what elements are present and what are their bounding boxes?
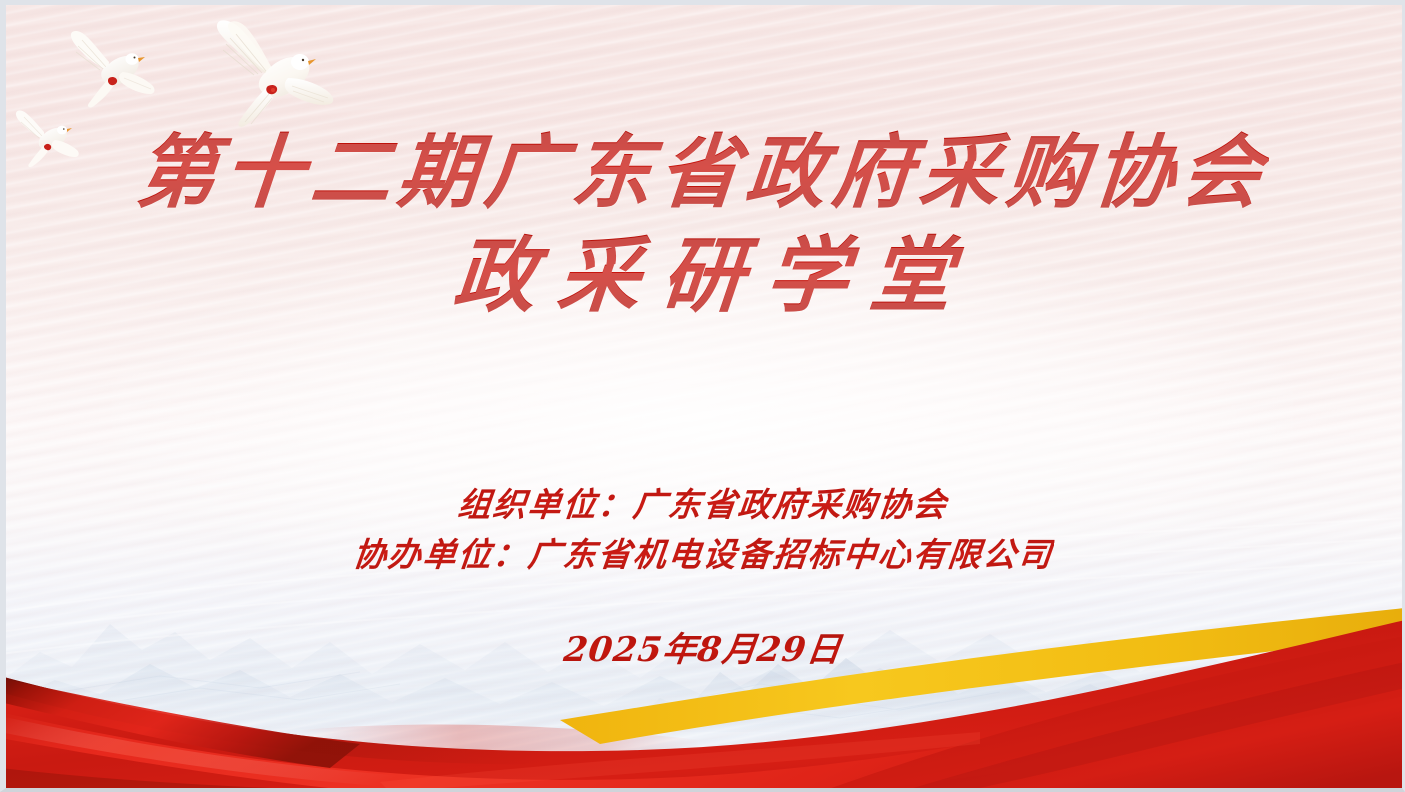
co-organizer-line: 协办单位：广东省机电设备招标中心有限公司 [0, 534, 1405, 576]
slide-title-line-2: 政采研学堂 [0, 230, 1405, 322]
slide-date: 2025年8月29日 [0, 628, 1405, 672]
co-organizer-line-text: 协办单位：广东省机电设备招标中心有限公司 [350, 534, 1054, 576]
presentation-slide: 第十二期广东省政府采购协会 政采研学堂 组织单位：广东省政府采购协会 协办单位：… [0, 0, 1405, 792]
slide-title-line-1: 第十二期广东省政府采购协会 [0, 126, 1405, 218]
slide-text-layer: 第十二期广东省政府采购协会 政采研学堂 组织单位：广东省政府采购协会 协办单位：… [0, 0, 1405, 792]
slide-title-line-1-text: 第十二期广东省政府采购协会 [133, 126, 1272, 218]
organizer-line-text: 组织单位：广东省政府采购协会 [455, 484, 949, 526]
slide-date-text: 2025年8月29日 [561, 628, 844, 672]
organizer-line: 组织单位：广东省政府采购协会 [0, 484, 1405, 526]
slide-title-line-2-text: 政采研学堂 [427, 230, 977, 322]
